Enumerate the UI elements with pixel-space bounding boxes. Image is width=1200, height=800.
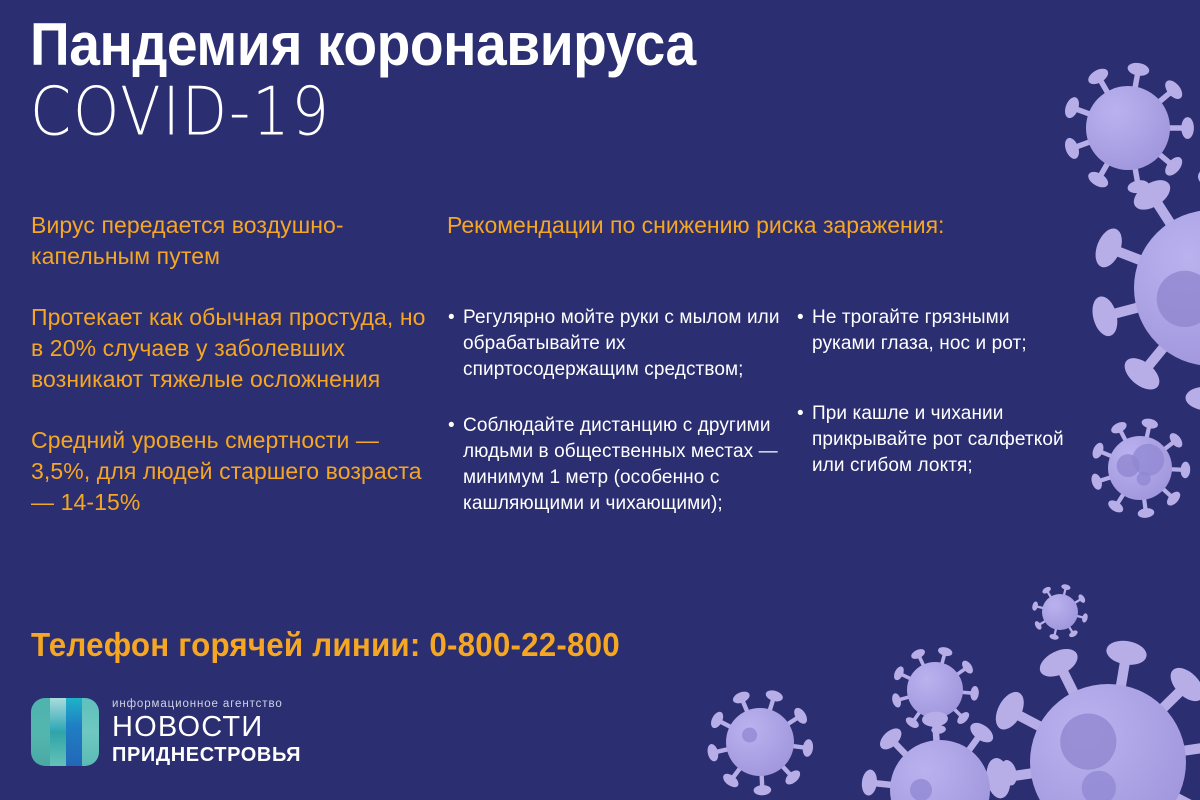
facts-column: Вирус передается воздушно-капельным путе… (31, 210, 431, 518)
recommendation-item: • Не трогайте грязными руками глаза, нос… (796, 305, 1066, 357)
fact-item: Средний уровень смертности — 3,5%, для л… (31, 425, 431, 518)
recommendation-item: • Соблюдайте дистанцию с другими людьми … (447, 413, 787, 517)
agency-logo: информационное агентство НОВОСТИ ПРИДНЕС… (31, 697, 301, 766)
bullet-marker-icon: • (797, 305, 804, 331)
logo-mark-icon (31, 698, 99, 766)
recommendation-item: • Регулярно мойте руки с мылом или обраб… (447, 305, 787, 383)
recommendation-text: Регулярно мойте руки с мылом или обрабат… (463, 307, 780, 380)
logo-name: НОВОСТИ (112, 712, 301, 743)
logo-region: ПРИДНЕСТРОВЬЯ (112, 744, 301, 766)
recommendation-item: • При кашле и чихании прикрывайте рот са… (796, 401, 1066, 479)
hotline-number: Телефон горячей линии: 0-800-22-800 (31, 626, 620, 664)
recommendations-middle-column: • Регулярно мойте руки с мылом или обраб… (447, 305, 787, 517)
page-subtitle: COVID-19 (30, 74, 717, 150)
recommendation-text: Не трогайте грязными руками глаза, нос и… (812, 307, 1027, 354)
page-title: Пандемия коронавируса (30, 12, 696, 78)
fact-item: Вирус передается воздушно-капельным путе… (31, 210, 431, 272)
recommendation-text: Соблюдайте дистанцию с другими людьми в … (463, 415, 778, 514)
logo-agency-label: информационное агентство (112, 697, 301, 711)
fact-item: Протекает как обычная простуда, но в 20%… (31, 302, 431, 395)
logo-text-block: информационное агентство НОВОСТИ ПРИДНЕС… (112, 697, 301, 766)
infographic-poster: Пандемия коронавируса COVID-19 Вирус пер… (0, 0, 1200, 800)
recommendation-text: При кашле и чихании прикрывайте рот салф… (812, 403, 1064, 476)
title-block: Пандемия коронавируса COVID-19 (30, 12, 754, 144)
bullet-marker-icon: • (797, 401, 804, 427)
recommendations-right-column: • Не трогайте грязными руками глаза, нос… (796, 305, 1066, 523)
bullet-marker-icon: • (448, 305, 455, 331)
recommendations-heading: Рекомендации по снижению риска заражения… (447, 210, 947, 241)
bullet-marker-icon: • (448, 413, 455, 439)
